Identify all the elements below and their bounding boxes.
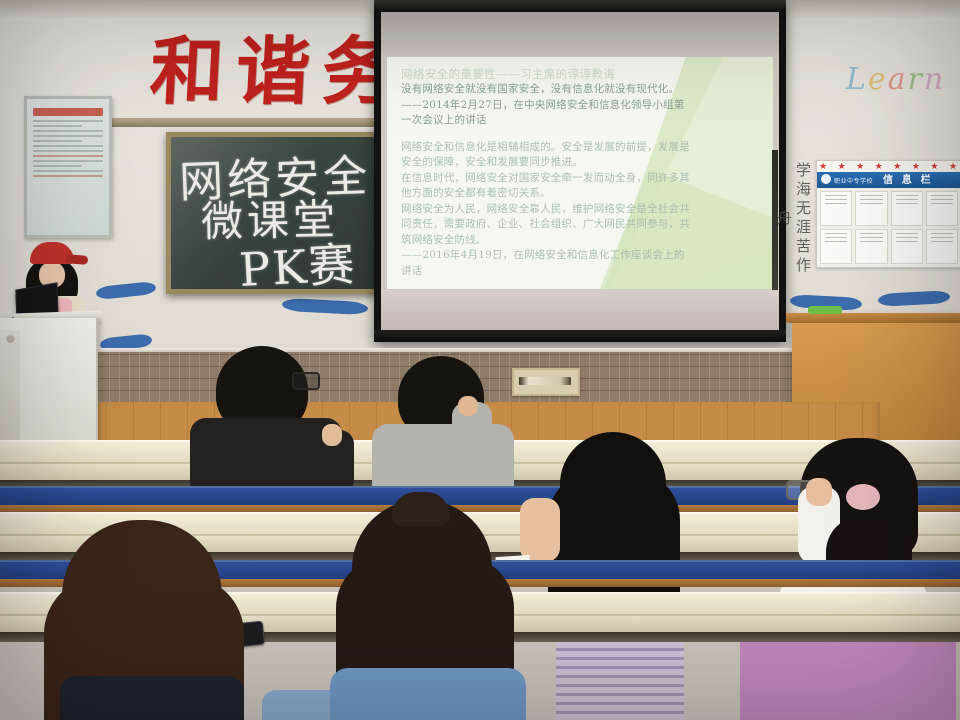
- bulletin-title: 信 息 栏: [883, 175, 934, 186]
- slide-text-block: 网络安全的重要性——习主席的谆谆教诲 没有网络安全就没有国家安全，没有信息化就没…: [401, 67, 763, 280]
- slide-paragraph: 没有网络安全就没有国家安全，没有信息化就没有现代化。: [401, 83, 763, 97]
- notice-line: [33, 160, 103, 162]
- blackboard: 网络安全 微课堂 PK赛: [166, 132, 392, 294]
- learn-letter: r: [908, 62, 924, 97]
- blackboard-writing: 网络安全 微课堂 PK赛: [171, 137, 387, 289]
- slide-paragraph: 安全的保障，安全和发展要同步推进。: [401, 156, 763, 170]
- vertical-calligraphy: 学海无涯苦作舟: [786, 158, 812, 280]
- classroom-photo: 和谐务 网络安全 微课堂 PK赛: [0, 0, 960, 720]
- notice-line: [33, 120, 103, 122]
- student-denim-shirt: [330, 668, 526, 720]
- cabinet-top-cap: [786, 313, 960, 323]
- slide-paragraph: 网络安全为人民，网络安全靠人民，维护网络安全是全社会共: [401, 203, 763, 217]
- learn-letter: e: [868, 62, 888, 97]
- school-logo-icon: [821, 174, 831, 184]
- bulletin-header: 职业中专学校信 息 栏: [817, 172, 960, 188]
- eyeglasses-icon: [292, 372, 320, 390]
- screen-top-rail: [374, 0, 786, 12]
- learn-wall-letters: Learn: [846, 62, 960, 104]
- notice-line: [33, 125, 82, 127]
- screen-lower-area: [381, 290, 779, 330]
- podium-knob[interactable]: [6, 334, 15, 343]
- student-hand: [322, 424, 342, 446]
- notice-line: [33, 145, 103, 147]
- bulletin-notice: [926, 229, 958, 264]
- bulletin-notice: [891, 229, 923, 264]
- presenter-red-cap: [30, 242, 74, 264]
- student-dark-top: [60, 676, 244, 720]
- bulletin-notice-grid: [820, 191, 958, 264]
- notice-line: [33, 140, 82, 142]
- slide-spacer: [401, 130, 763, 141]
- star-border: ★ ★ ★ ★ ★ ★ ★ ★ ★: [817, 161, 960, 172]
- student-hand: [458, 396, 478, 416]
- presentation-slide: 网络安全的重要性——习主席的谆谆教诲 没有网络安全就没有国家安全，没有信息化就没…: [387, 57, 773, 289]
- projection-screen: 网络安全的重要性——习主席的谆谆教诲 没有网络安全就没有国家安全，没有信息化就没…: [374, 0, 786, 342]
- slide-paragraph: ——2016年4月19日，在网络安全和信息化工作座谈会上的: [401, 249, 763, 263]
- hair-bun: [392, 492, 450, 526]
- screen-bottom-rail: [374, 330, 786, 342]
- red-banner-text: 和谐务: [147, 22, 387, 122]
- notice-title-bar: [33, 108, 103, 116]
- learn-letter: L: [846, 62, 868, 97]
- slide-paragraph: 他方面的安全都有着密切关系。: [401, 187, 763, 201]
- slide-paragraph: 网络安全和信息化是相辅相成的。安全是发展的前提，发展是: [401, 141, 763, 155]
- screen-blank-area: [381, 12, 779, 57]
- bulletin-notice: [926, 191, 958, 226]
- school-name: 职业中专学校: [834, 179, 873, 185]
- slide-title: 网络安全的重要性——习主席的谆谆教诲: [401, 67, 763, 82]
- slide-paragraph: 讲话: [401, 265, 763, 279]
- slide-paragraph: 一次会议上的讲话: [401, 114, 763, 128]
- screen-surface: 网络安全的重要性——习主席的谆谆教诲 没有网络安全就没有国家安全，没有信息化就没…: [381, 12, 779, 330]
- learn-letter: a: [888, 62, 908, 97]
- notice-line: [33, 135, 103, 137]
- hair-scrunchie: [846, 484, 880, 510]
- notice-line: [33, 130, 103, 132]
- notice-line: [33, 155, 103, 157]
- bulletin-notice: [855, 229, 887, 264]
- student-head: [560, 432, 666, 536]
- green-object-on-cabinet: [808, 306, 842, 314]
- blackboard-line-3: PK赛: [237, 228, 358, 294]
- learn-letter: n: [924, 62, 945, 97]
- slide-paragraph: 在信息时代，网络安全对国家安全牵一发而动全身，同许多其: [401, 172, 763, 186]
- whiteboard-trim: [96, 118, 396, 127]
- switch-strip: [519, 377, 571, 385]
- bulletin-board: ★ ★ ★ ★ ★ ★ ★ ★ ★ 职业中专学校信 息 栏: [816, 160, 960, 268]
- notice-line: [33, 170, 103, 172]
- bulletin-notice: [891, 191, 923, 226]
- notice-line: [33, 165, 82, 167]
- slide-paragraph: 筑网络安全防线。: [401, 234, 763, 248]
- bulletin-notice: [855, 191, 887, 226]
- slide-paragraph: ——2014年2月27日，在中央网络安全和信息化领导小组第: [401, 99, 763, 113]
- bulletin-notice: [820, 229, 852, 264]
- framed-notice-board: [24, 96, 112, 238]
- bulletin-notice: [820, 191, 852, 226]
- notice-line: [33, 150, 103, 152]
- slide-paragraph: 同责任，需要政府、企业、社会组织、广大网民共同参与，共: [401, 218, 763, 232]
- notice-line: [33, 175, 103, 177]
- wall-switch-panel[interactable]: [512, 368, 580, 396]
- student-arm: [520, 498, 560, 562]
- student-hand: [806, 478, 832, 506]
